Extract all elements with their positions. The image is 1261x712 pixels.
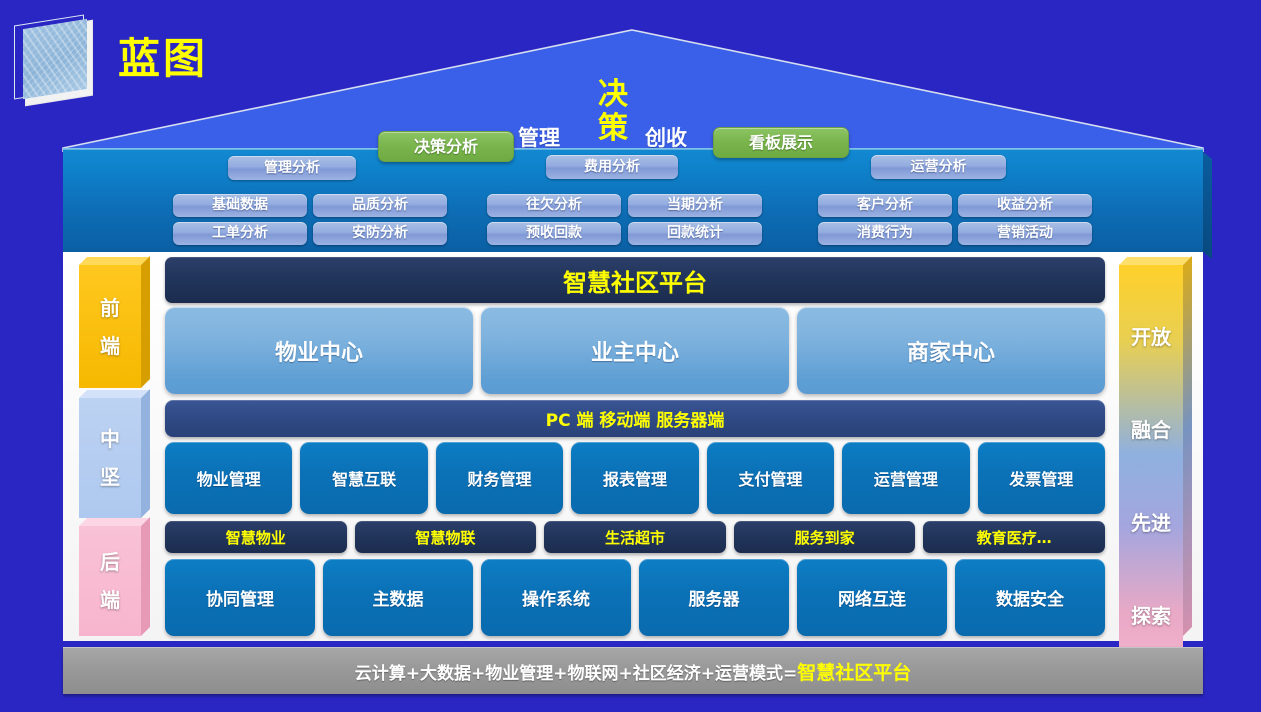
analysis-chip-4[interactable]: 当期分析 [628, 194, 762, 217]
service-box-4[interactable]: 服务到家 [734, 521, 916, 553]
quality-attribute-label-1: 开放 [1131, 318, 1171, 356]
infrastructure-box-label-2: 主数据 [373, 585, 424, 610]
infrastructure-box-1[interactable]: 协同管理 [165, 559, 315, 636]
band-right-bevel [1203, 152, 1212, 259]
tier-block-label-frontend: 前端 [79, 265, 141, 388]
analysis-action-button-1[interactable]: 决策分析 [378, 131, 514, 162]
module-box-label-4: 报表管理 [603, 466, 667, 490]
service-box-label-3: 生活超市 [605, 527, 665, 548]
footer-formula-text: 云计算+大数据+物业管理+物联网+社区经济+运营模式= [355, 659, 797, 684]
service-box-label-2: 智慧物联 [415, 527, 475, 548]
footer-result-text: 智慧社区平台 [797, 658, 911, 685]
analysis-chip-5[interactable]: 客户分析 [818, 194, 952, 217]
quality-attributes-labels: 开放融合先进探索 [1119, 265, 1183, 688]
quality-attribute-label-2: 融合 [1131, 411, 1171, 449]
infrastructure-box-3[interactable]: 操作系统 [481, 559, 631, 636]
infrastructure-box-label-3: 操作系统 [522, 585, 590, 610]
diagram-canvas: 蓝图 管理 创收 决策 决策分析看板展示管理分析费用分析运营分析基础数据品质分析… [0, 0, 1261, 712]
service-box-label-1: 智慧物业 [226, 527, 286, 548]
infrastructure-box-label-1: 协同管理 [206, 585, 274, 610]
module-box-label-3: 财务管理 [468, 466, 532, 490]
module-box-label-2: 智慧互联 [332, 466, 396, 490]
module-box-label-5: 支付管理 [738, 466, 802, 490]
analysis-chip-10[interactable]: 回款统计 [628, 222, 762, 245]
channel-bar-text: PC 端 移动端 服务器端 [546, 406, 725, 431]
analysis-action-button-2[interactable]: 看板展示 [713, 127, 849, 158]
analysis-group-header-1[interactable]: 管理分析 [228, 156, 356, 180]
service-box-2[interactable]: 智慧物联 [355, 521, 537, 553]
module-box-1[interactable]: 物业管理 [165, 442, 292, 514]
module-box-5[interactable]: 支付管理 [707, 442, 834, 514]
infrastructure-box-label-4: 服务器 [689, 585, 740, 610]
center-module-3[interactable]: 商家中心 [797, 307, 1105, 394]
module-box-label-1: 物业管理 [197, 466, 261, 490]
center-module-2[interactable]: 业主中心 [481, 307, 789, 394]
analysis-chip-7[interactable]: 工单分析 [173, 222, 307, 245]
tier-block-side-face [141, 517, 150, 636]
service-box-3[interactable]: 生活超市 [544, 521, 726, 553]
tier-block-top-face [79, 390, 149, 398]
center-module-1[interactable]: 物业中心 [165, 307, 473, 394]
tier-block-top-face [79, 518, 149, 526]
module-box-2[interactable]: 智慧互联 [300, 442, 427, 514]
platform-title-bar[interactable]: 智慧社区平台 [165, 257, 1105, 303]
tier-block-label-midcore: 中坚 [79, 398, 141, 518]
analysis-group-header-2[interactable]: 费用分析 [546, 155, 678, 179]
module-box-6[interactable]: 运营管理 [842, 442, 969, 514]
platform-title-text: 智慧社区平台 [563, 263, 707, 298]
center-module-label-1: 物业中心 [275, 335, 363, 367]
service-box-label-4: 服务到家 [795, 527, 855, 548]
infrastructure-box-6[interactable]: 数据安全 [955, 559, 1105, 636]
analysis-chip-9[interactable]: 预收回款 [487, 222, 621, 245]
quality-block-side-face [1183, 256, 1192, 636]
service-box-label-5: 教育医疗… [977, 527, 1052, 548]
infrastructure-box-label-5: 网络互连 [838, 585, 906, 610]
infrastructure-box-4[interactable]: 服务器 [639, 559, 789, 636]
tier-block-label-backend: 后端 [79, 526, 141, 636]
analysis-chip-3[interactable]: 往欠分析 [487, 194, 621, 217]
analysis-group-header-3[interactable]: 运营分析 [871, 155, 1006, 179]
footer-formula-bar: 云计算+大数据+物业管理+物联网+社区经济+运营模式=智慧社区平台 [63, 647, 1203, 694]
roof-shape: 管理 创收 决策 [0, 26, 1261, 152]
quality-attribute-label-4: 探索 [1131, 597, 1171, 635]
tier-block-midcore[interactable]: 中坚 [79, 390, 141, 518]
service-box-1[interactable]: 智慧物业 [165, 521, 347, 553]
analysis-chip-1[interactable]: 基础数据 [173, 194, 307, 217]
tier-block-side-face [141, 256, 150, 388]
channel-bar[interactable]: PC 端 移动端 服务器端 [165, 400, 1105, 437]
quality-attribute-label-3: 先进 [1131, 504, 1171, 542]
quality-attributes-block[interactable]: 开放融合先进探索 [1119, 257, 1183, 636]
tier-block-side-face [141, 389, 150, 518]
infrastructure-box-label-6: 数据安全 [996, 585, 1064, 610]
service-box-5[interactable]: 教育医疗… [923, 521, 1105, 553]
infrastructure-box-2[interactable]: 主数据 [323, 559, 473, 636]
roof-decision-char-1: 决 [598, 77, 628, 112]
module-box-label-6: 运营管理 [874, 466, 938, 490]
infrastructure-box-5[interactable]: 网络互连 [797, 559, 947, 636]
quality-block-top-face [1119, 257, 1191, 265]
module-box-3[interactable]: 财务管理 [436, 442, 563, 514]
module-box-label-7: 发票管理 [1009, 466, 1073, 490]
center-module-label-3: 商家中心 [907, 335, 995, 367]
analysis-chip-6[interactable]: 收益分析 [958, 194, 1092, 217]
module-box-7[interactable]: 发票管理 [978, 442, 1105, 514]
analysis-chip-11[interactable]: 消费行为 [818, 222, 952, 245]
analysis-chip-8[interactable]: 安防分析 [313, 222, 447, 245]
analysis-chip-2[interactable]: 品质分析 [313, 194, 447, 217]
tier-block-backend[interactable]: 后端 [79, 518, 141, 636]
roof-word-decision: 决策 [591, 78, 635, 145]
roof-decision-char-2: 策 [598, 111, 628, 146]
tier-block-frontend[interactable]: 前端 [79, 257, 141, 388]
module-box-4[interactable]: 报表管理 [571, 442, 698, 514]
analysis-chip-12[interactable]: 营销活动 [958, 222, 1092, 245]
tier-block-top-face [79, 257, 149, 265]
center-module-label-2: 业主中心 [591, 335, 679, 367]
